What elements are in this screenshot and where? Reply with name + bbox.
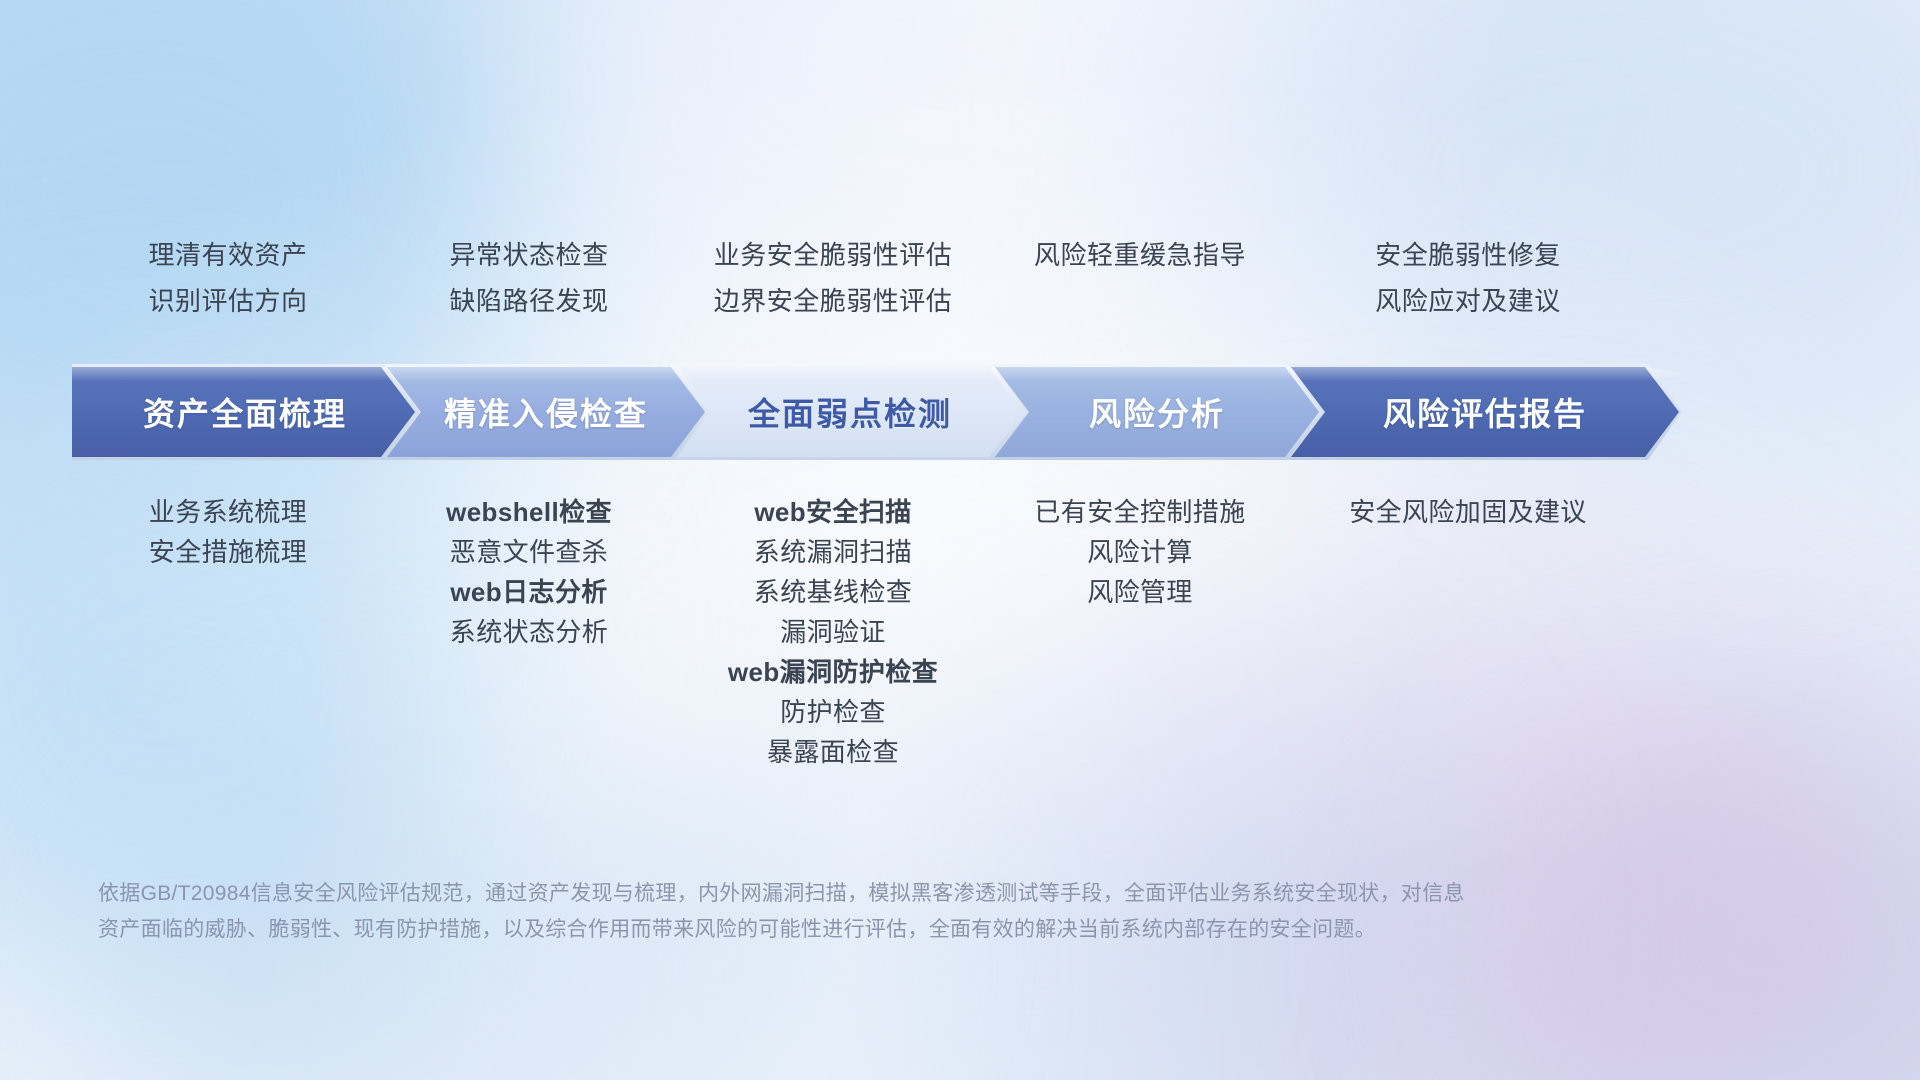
bottom-items-intrusion-check: webshell检查 恶意文件查杀 web日志分析 系统状态分析 — [384, 492, 674, 652]
top-captions-weakness-detection: 业务安全脆弱性评估 边界安全脆弱性评估 — [674, 232, 992, 324]
list-item: 风险管理 — [992, 572, 1288, 612]
chevron-stage-weakness-detection[interactable]: 全面弱点检测 — [674, 364, 1026, 460]
list-item: 系统基线检查 — [674, 572, 992, 612]
list-item: 已有安全控制措施 — [992, 492, 1288, 532]
top-caption: 理清有效资产 — [72, 232, 384, 278]
list-item: 安全措施梳理 — [72, 532, 384, 572]
list-item: web日志分析 — [384, 572, 674, 612]
footer-description: 依据GB/T20984信息安全风险评估规范，通过资产发现与梳理，内外网漏洞扫描，… — [98, 876, 1658, 948]
top-captions-assessment-report: 安全脆弱性修复 风险应对及建议 — [1288, 232, 1648, 324]
list-item: web安全扫描 — [674, 492, 992, 532]
chevron-stage-intrusion-check[interactable]: 精准入侵检查 — [384, 364, 708, 460]
top-caption: 异常状态检查 — [384, 232, 674, 278]
top-caption: 业务安全脆弱性评估 — [674, 232, 992, 278]
top-caption: 风险应对及建议 — [1288, 278, 1648, 324]
list-item: web漏洞防护检查 — [674, 652, 992, 692]
list-item: 漏洞验证 — [674, 612, 992, 652]
bottom-items-asset-inventory: 业务系统梳理 安全措施梳理 — [72, 492, 384, 572]
chevron-stage-asset-inventory[interactable]: 资产全面梳理 — [72, 364, 418, 460]
chevron-label: 风险评估报告 — [1383, 389, 1587, 435]
top-captions-risk-analysis: 风险轻重缓急指导 — [992, 232, 1288, 324]
list-item: 安全风险加固及建议 — [1288, 492, 1648, 532]
bottom-items-risk-analysis: 已有安全控制措施 风险计算 风险管理 — [992, 492, 1288, 612]
list-item: 系统漏洞扫描 — [674, 532, 992, 572]
list-item: 系统状态分析 — [384, 612, 674, 652]
list-item: 暴露面检查 — [674, 732, 992, 772]
top-caption: 安全脆弱性修复 — [1288, 232, 1648, 278]
list-item: 风险计算 — [992, 532, 1288, 572]
chevron-label: 资产全面梳理 — [143, 389, 347, 435]
list-item: 业务系统梳理 — [72, 492, 384, 532]
top-caption: 风险轻重缓急指导 — [992, 232, 1288, 278]
list-item: 恶意文件查杀 — [384, 532, 674, 572]
risk-assessment-process-slide: 理清有效资产 识别评估方向 异常状态检查 缺陷路径发现 业务安全脆弱性评估 边界… — [0, 0, 1920, 1080]
footer-line: 依据GB/T20984信息安全风险评估规范，通过资产发现与梳理，内外网漏洞扫描，… — [98, 876, 1658, 912]
list-item: 防护检查 — [674, 692, 992, 732]
bottom-items-assessment-report: 安全风险加固及建议 — [1288, 492, 1648, 532]
top-captions-intrusion-check: 异常状态检查 缺陷路径发现 — [384, 232, 674, 324]
top-caption: 识别评估方向 — [72, 278, 384, 324]
top-caption: 边界安全脆弱性评估 — [674, 278, 992, 324]
footer-line: 资产面临的威胁、脆弱性、现有防护措施，以及综合作用而带来风险的可能性进行评估，全… — [98, 912, 1658, 948]
bottom-items-row: 业务系统梳理 安全措施梳理 webshell检查 恶意文件查杀 web日志分析 … — [72, 492, 1848, 772]
chevron-label: 精准入侵检查 — [444, 389, 648, 435]
chevron-stage-assessment-report[interactable]: 风险评估报告 — [1288, 364, 1682, 460]
top-caption: 缺陷路径发现 — [384, 278, 674, 324]
bottom-items-weakness-detection: web安全扫描 系统漏洞扫描 系统基线检查 漏洞验证 web漏洞防护检查 防护检… — [674, 492, 992, 772]
top-captions-row: 理清有效资产 识别评估方向 异常状态检查 缺陷路径发现 业务安全脆弱性评估 边界… — [72, 232, 1848, 324]
chevron-label: 全面弱点检测 — [748, 389, 952, 435]
chevron-stage-risk-analysis[interactable]: 风险分析 — [992, 364, 1322, 460]
chevron-label: 风险分析 — [1089, 389, 1225, 435]
process-chevron-band: 资产全面梳理 精准入侵检查 全面弱点检测 — [72, 364, 1848, 460]
top-captions-asset-inventory: 理清有效资产 识别评估方向 — [72, 232, 384, 324]
list-item: webshell检查 — [384, 492, 674, 532]
